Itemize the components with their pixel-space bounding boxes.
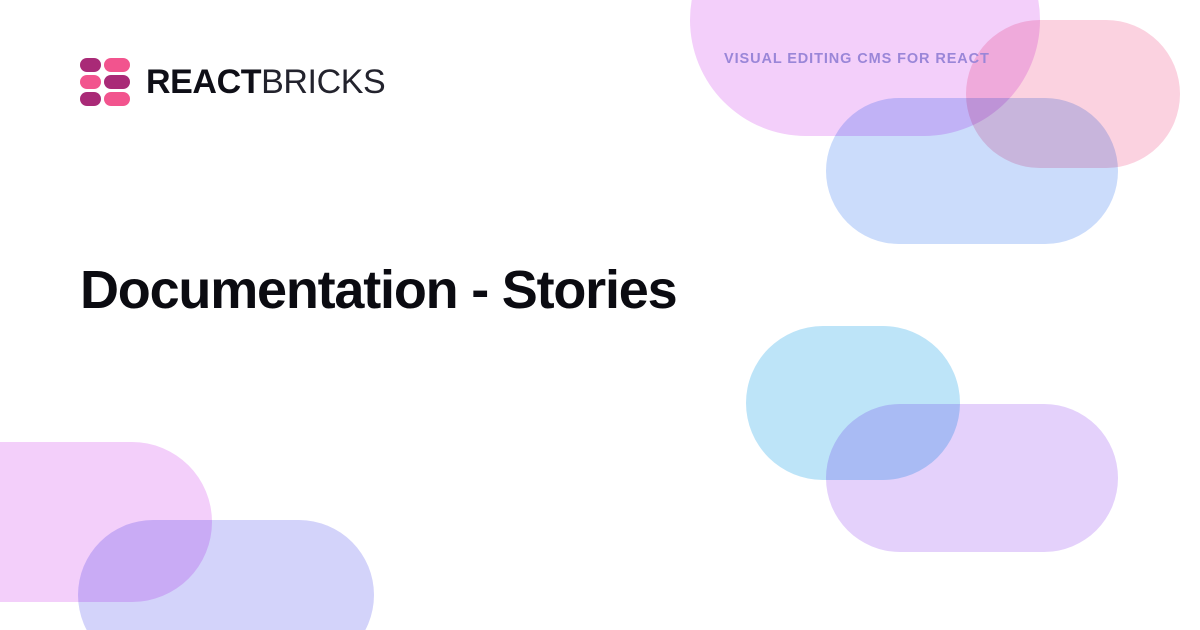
logo-word-bricks: BRICKS	[261, 65, 385, 99]
blob-top-right-pink	[690, 0, 1040, 136]
brand-logo: REACT BRICKS	[80, 58, 385, 106]
blob-top-right-blue	[826, 98, 1118, 244]
share-card-canvas: VISUAL EDITING CMS FOR REACT REACT BRICK…	[0, 0, 1200, 630]
logo-brick-r2c2	[104, 75, 130, 89]
logo-brick-r2c1	[80, 75, 101, 89]
logo-brick-r1c1	[80, 58, 101, 72]
blob-bottom-left-pink	[0, 442, 212, 602]
blob-mid-right-cyan	[746, 326, 960, 480]
blob-bottom-left-violet	[78, 520, 374, 630]
logo-brick-r3c1	[80, 92, 101, 106]
logo-brick-r3c2	[104, 92, 130, 106]
page-title: Documentation - Stories	[80, 258, 676, 323]
react-bricks-mark-icon	[80, 58, 130, 106]
tagline: VISUAL EDITING CMS FOR REACT	[724, 51, 990, 67]
logo-brick-r1c2	[104, 58, 130, 72]
blob-mid-right-purple	[826, 404, 1118, 552]
logo-wordmark: REACT BRICKS	[146, 65, 385, 99]
logo-word-react: REACT	[146, 65, 261, 99]
blob-top-right-rose	[966, 20, 1180, 168]
